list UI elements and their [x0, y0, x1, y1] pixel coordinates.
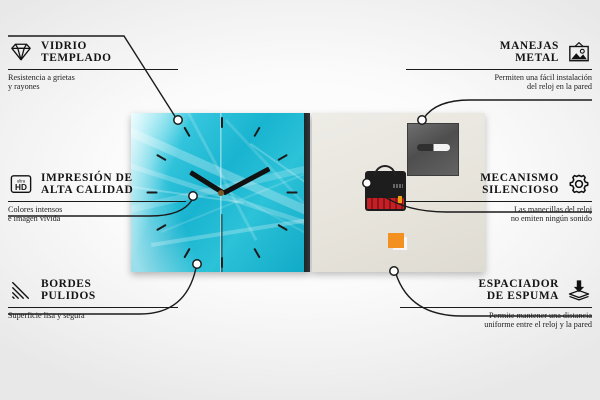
node-vidrio-templado	[174, 116, 182, 124]
node-manejas	[418, 116, 426, 124]
infographic-canvas: VIDRIO TEMPLADO Resistencia a grietas y …	[0, 0, 600, 400]
foam-spacer-arrow-icon	[566, 279, 592, 301]
feature-bordes-pulidos: BORDES PULIDOS Superficie lisa y segura	[8, 278, 178, 320]
node-bordes	[193, 260, 201, 268]
feature-description: Resistencia a grietas y rayones	[8, 73, 178, 92]
feature-rule	[400, 307, 592, 308]
gear-icon	[566, 173, 592, 195]
ultra-hd-icon: ultra HD	[8, 173, 34, 195]
framed-picture-hanger-icon	[566, 41, 592, 63]
feature-description: Colores intensos e imagen vívida	[8, 205, 186, 224]
feature-description: Las manecillas del reloj no emiten ningú…	[406, 205, 592, 224]
node-impresion	[189, 192, 197, 200]
feature-title: BORDES PULIDOS	[41, 278, 96, 303]
feature-impresion-alta-calidad: ultra HD IMPRESIÓN DE ALTA CALIDAD Color…	[8, 172, 186, 224]
node-mecanismo	[363, 179, 371, 187]
feature-description: Permite mantener una distancia uniforme …	[400, 311, 592, 330]
feature-rule	[8, 69, 178, 70]
feature-vidrio-templado: VIDRIO TEMPLADO Resistencia a grietas y …	[8, 40, 178, 92]
diamond-icon	[8, 41, 34, 63]
feature-manejas-metal: MANEJAS METAL Permiten una fácil instala…	[406, 40, 592, 92]
polished-edges-icon	[8, 279, 34, 301]
feature-description: Permiten una fácil instalación del reloj…	[406, 73, 592, 92]
feature-rule	[8, 201, 186, 202]
feature-title: MANEJAS METAL	[500, 40, 559, 65]
feature-description: Superficie lisa y segura	[8, 311, 178, 321]
feature-rule	[8, 307, 178, 308]
feature-title: VIDRIO TEMPLADO	[41, 40, 112, 65]
feature-espaciador-espuma: ESPACIADOR DE ESPUMA Permite mantener un…	[400, 278, 592, 330]
node-espaciador	[390, 267, 398, 275]
wire-manejas	[424, 100, 592, 118]
svg-text:HD: HD	[15, 183, 27, 192]
feature-title: IMPRESIÓN DE ALTA CALIDAD	[41, 172, 133, 197]
feature-rule	[406, 69, 592, 70]
feature-title: ESPACIADOR DE ESPUMA	[479, 278, 559, 303]
feature-mecanismo-silencioso: MECANISMO SILENCIOSO Las manecillas del …	[406, 172, 592, 224]
feature-title: MECANISMO SILENCIOSO	[480, 172, 559, 197]
feature-rule	[406, 201, 592, 202]
